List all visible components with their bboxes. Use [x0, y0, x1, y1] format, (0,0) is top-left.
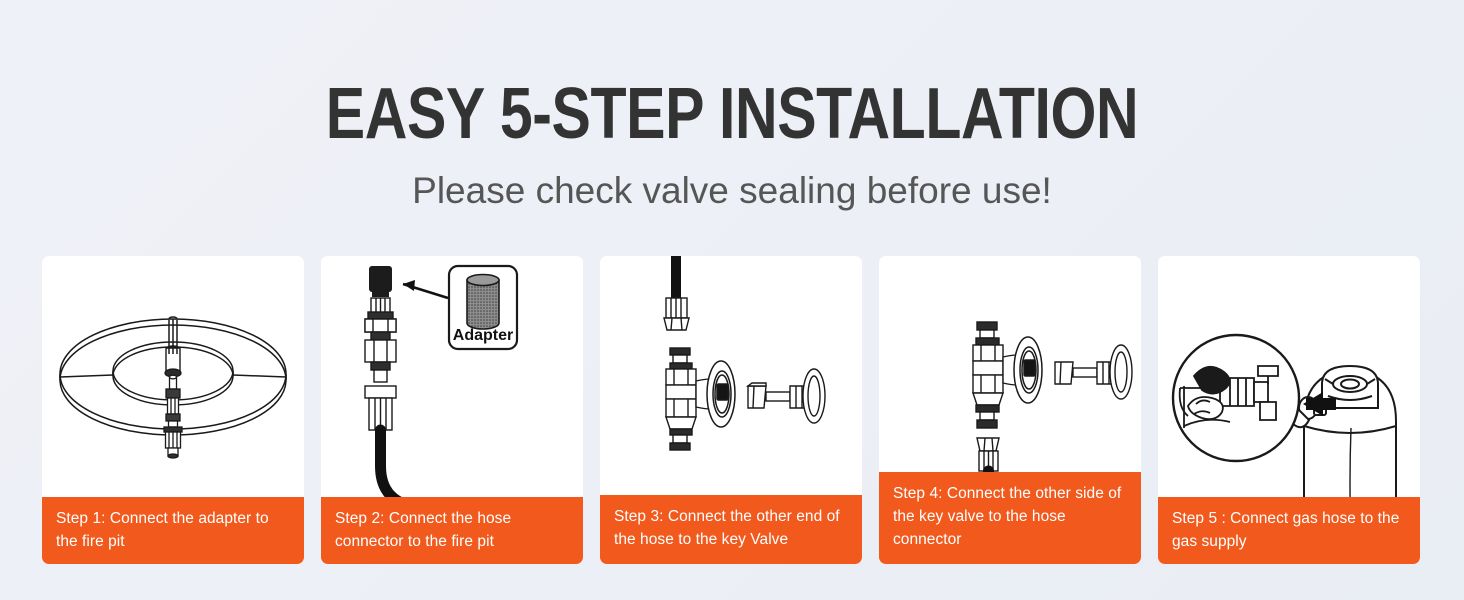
installation-infographic: EASY 5-STEP INSTALLATION Please check va…	[0, 0, 1464, 600]
step-caption-4: Step 4: Connect the other side of the ke…	[879, 472, 1141, 564]
step-card-2: Adapter Step 2: Connect the hose connect…	[321, 256, 583, 564]
step-card-5: Step 5 : Connect gas hose to the gas sup…	[1158, 256, 1420, 564]
step-card-1: Step 1: Connect the adapter to the fire …	[42, 256, 304, 564]
adapter-callout-label: Adapter	[453, 327, 513, 344]
step-caption-3: Step 3: Connect the other end of the hos…	[600, 495, 862, 564]
step-caption-1: Step 1: Connect the adapter to the fire …	[42, 497, 304, 564]
step-card-3: Step 3: Connect the other end of the hos…	[600, 256, 862, 564]
header: EASY 5-STEP INSTALLATION Please check va…	[0, 0, 1464, 209]
step-caption-5: Step 5 : Connect gas hose to the gas sup…	[1158, 497, 1420, 564]
page-subtitle: Please check valve sealing before use!	[0, 172, 1464, 209]
steps-row: Step 1: Connect the adapter to the fire …	[42, 256, 1422, 564]
step-card-4: Step 4: Connect the other side of the ke…	[879, 256, 1141, 564]
step-caption-2: Step 2: Connect the hose connector to th…	[321, 497, 583, 564]
page-title: EASY 5-STEP INSTALLATION	[132, 78, 1332, 150]
